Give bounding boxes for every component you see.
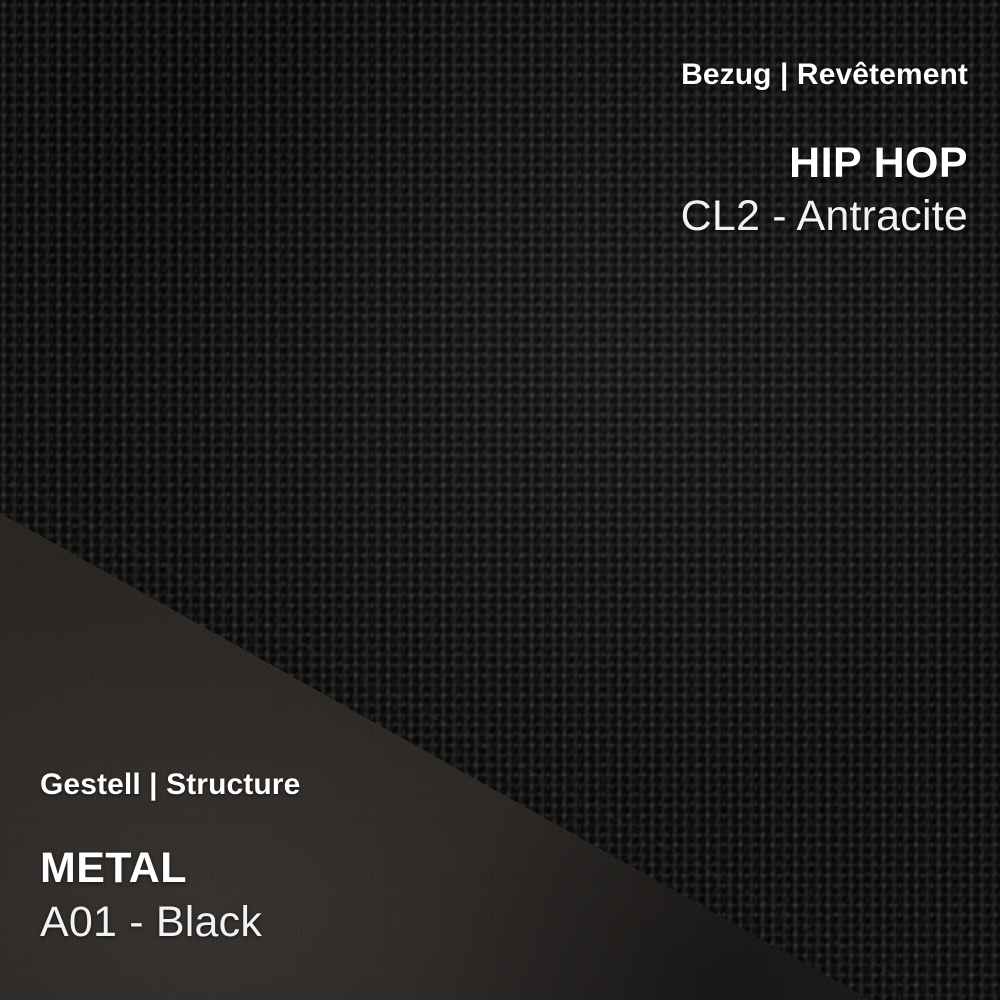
material-swatch-card: Bezug | Revêtement HIP HOP CL2 - Antraci… bbox=[0, 0, 1000, 1000]
upholstery-label-group: Bezug | Revêtement HIP HOP CL2 - Antraci… bbox=[681, 58, 968, 240]
frame-material-code: A01 - Black bbox=[40, 898, 300, 946]
frame-material-name: METAL bbox=[40, 845, 300, 891]
frame-category-label: Gestell | Structure bbox=[40, 768, 300, 802]
frame-label-group: Gestell | Structure METAL A01 - Black bbox=[40, 768, 300, 946]
upholstery-material-name: HIP HOP bbox=[681, 140, 968, 186]
upholstery-material-code: CL2 - Antracite bbox=[681, 192, 968, 240]
upholstery-category-label: Bezug | Revêtement bbox=[681, 58, 968, 92]
